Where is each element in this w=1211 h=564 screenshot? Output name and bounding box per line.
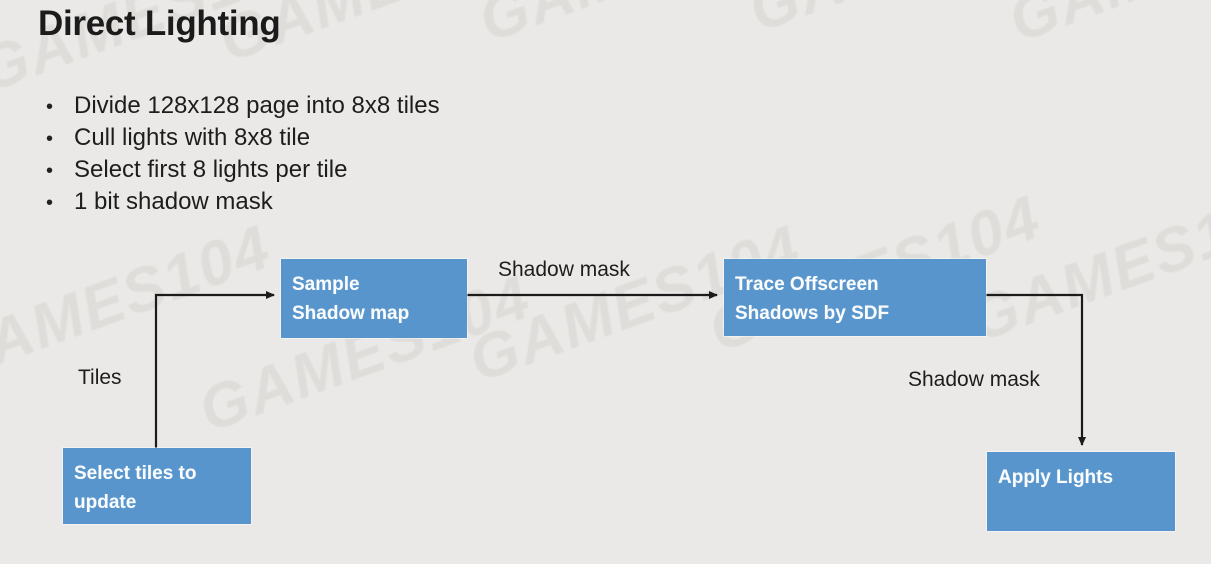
edge-label-shadow-mask-top: Shadow mask: [498, 258, 630, 282]
flow-node-apply-lights[interactable]: Apply Lights: [987, 452, 1175, 531]
flow-diagram: Select tiles to update Sample Shadow map…: [0, 0, 1211, 564]
bullet-marker-icon: •: [46, 123, 74, 155]
flow-node-line1: Trace Offscreen: [735, 270, 986, 299]
list-item: • Select first 8 lights per tile: [46, 154, 440, 186]
list-item-label: 1 bit shadow mask: [74, 186, 273, 218]
flow-node-trace-offscreen[interactable]: Trace Offscreen Shadows by SDF: [724, 259, 986, 336]
list-item: • Cull lights with 8x8 tile: [46, 122, 440, 154]
flow-node-line1: Sample: [292, 270, 467, 299]
edge-label-tiles: Tiles: [78, 366, 122, 390]
list-item-label: Cull lights with 8x8 tile: [74, 122, 310, 154]
flow-node-sample-shadow-map[interactable]: Sample Shadow map: [281, 259, 467, 338]
bullet-list: • Divide 128x128 page into 8x8 tiles • C…: [46, 90, 440, 218]
list-item: • Divide 128x128 page into 8x8 tiles: [46, 90, 440, 122]
edge-select-to-sample: [156, 295, 274, 450]
bullet-marker-icon: •: [46, 91, 74, 123]
bullet-marker-icon: •: [46, 155, 74, 187]
flow-node-select-tiles[interactable]: Select tiles to update: [63, 448, 251, 524]
flow-node-line2: Shadow map: [292, 299, 467, 328]
list-item-label: Divide 128x128 page into 8x8 tiles: [74, 90, 440, 122]
flow-node-line2: Shadows by SDF: [735, 299, 986, 328]
flow-node-line1: Select tiles to: [74, 459, 251, 488]
page-title: Direct Lighting: [38, 4, 280, 44]
edge-label-shadow-mask-right: Shadow mask: [908, 368, 1040, 392]
list-item-label: Select first 8 lights per tile: [74, 154, 347, 186]
bullet-marker-icon: •: [46, 187, 74, 219]
flow-node-line1: Apply Lights: [998, 463, 1175, 492]
flow-node-line2: update: [74, 488, 251, 517]
slide-canvas: GAMES104 GAMES104 GAMES104 GAMES104 GAME…: [0, 0, 1211, 564]
list-item: • 1 bit shadow mask: [46, 186, 440, 218]
